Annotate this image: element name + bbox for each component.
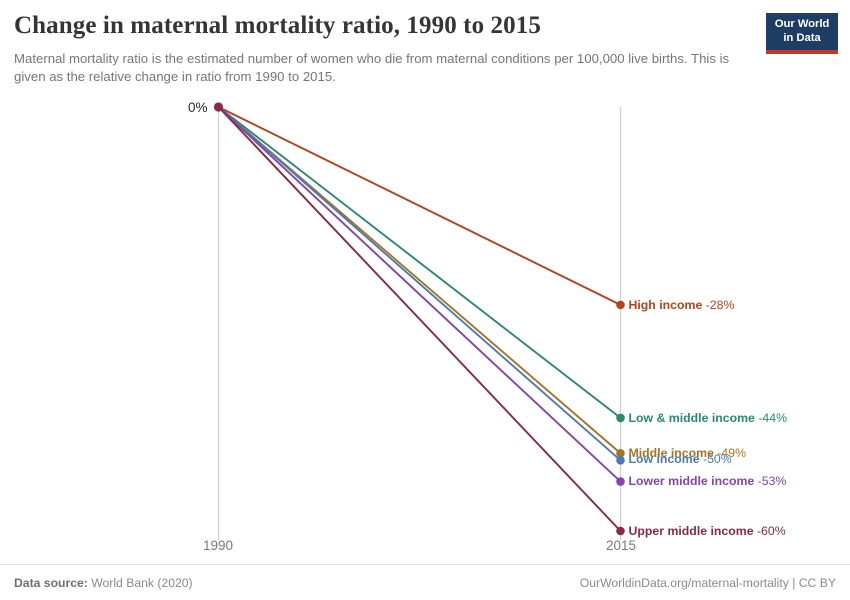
series-lines-group	[219, 107, 621, 531]
chart-footer: Data source: World Bank (2020) OurWorldi…	[0, 564, 850, 600]
chart-page: Change in maternal mortality ratio, 1990…	[0, 0, 850, 600]
series-name: Lower middle income	[629, 474, 755, 488]
series-end-dot[interactable]	[616, 477, 625, 486]
series-line[interactable]	[219, 107, 621, 482]
series-line[interactable]	[219, 107, 621, 460]
zero-axis-label: 0%	[188, 100, 208, 115]
series-name: High income	[629, 298, 703, 312]
series-value: -53%	[754, 474, 786, 488]
origin-dot[interactable]	[214, 102, 223, 111]
series-line[interactable]	[219, 107, 621, 305]
series-end-dot[interactable]	[616, 456, 625, 465]
series-end-label[interactable]: High income -28%	[629, 299, 735, 311]
series-value: -28%	[702, 298, 734, 312]
series-end-dot[interactable]	[616, 414, 625, 423]
series-line[interactable]	[219, 107, 621, 531]
data-source: Data source: World Bank (2020)	[14, 576, 193, 590]
source-link[interactable]: OurWorldinData.org/maternal-mortality | …	[580, 576, 836, 590]
data-source-value: World Bank (2020)	[91, 576, 192, 590]
series-value: -60%	[754, 524, 786, 538]
x-axis-tick-1990: 1990	[203, 538, 233, 553]
series-end-dot[interactable]	[616, 527, 625, 536]
series-name: Low income	[629, 452, 700, 466]
series-end-label[interactable]: Lower middle income -53%	[629, 475, 787, 487]
x-axis-tick-2015: 2015	[606, 538, 636, 553]
series-end-label[interactable]: Low & middle income -44%	[629, 412, 788, 424]
series-end-label[interactable]: Upper middle income -60%	[629, 525, 786, 537]
series-end-label[interactable]: Low income -50%	[629, 453, 732, 465]
series-name: Upper middle income	[629, 524, 754, 538]
series-value: -44%	[755, 411, 787, 425]
series-line[interactable]	[219, 107, 621, 418]
data-source-label: Data source:	[14, 576, 88, 590]
series-value: -50%	[700, 452, 732, 466]
chart-plot-area: 0% 1990 2015 High income -28%Low & middl…	[0, 0, 850, 600]
series-end-dot[interactable]	[616, 301, 625, 310]
series-name: Low & middle income	[629, 411, 755, 425]
